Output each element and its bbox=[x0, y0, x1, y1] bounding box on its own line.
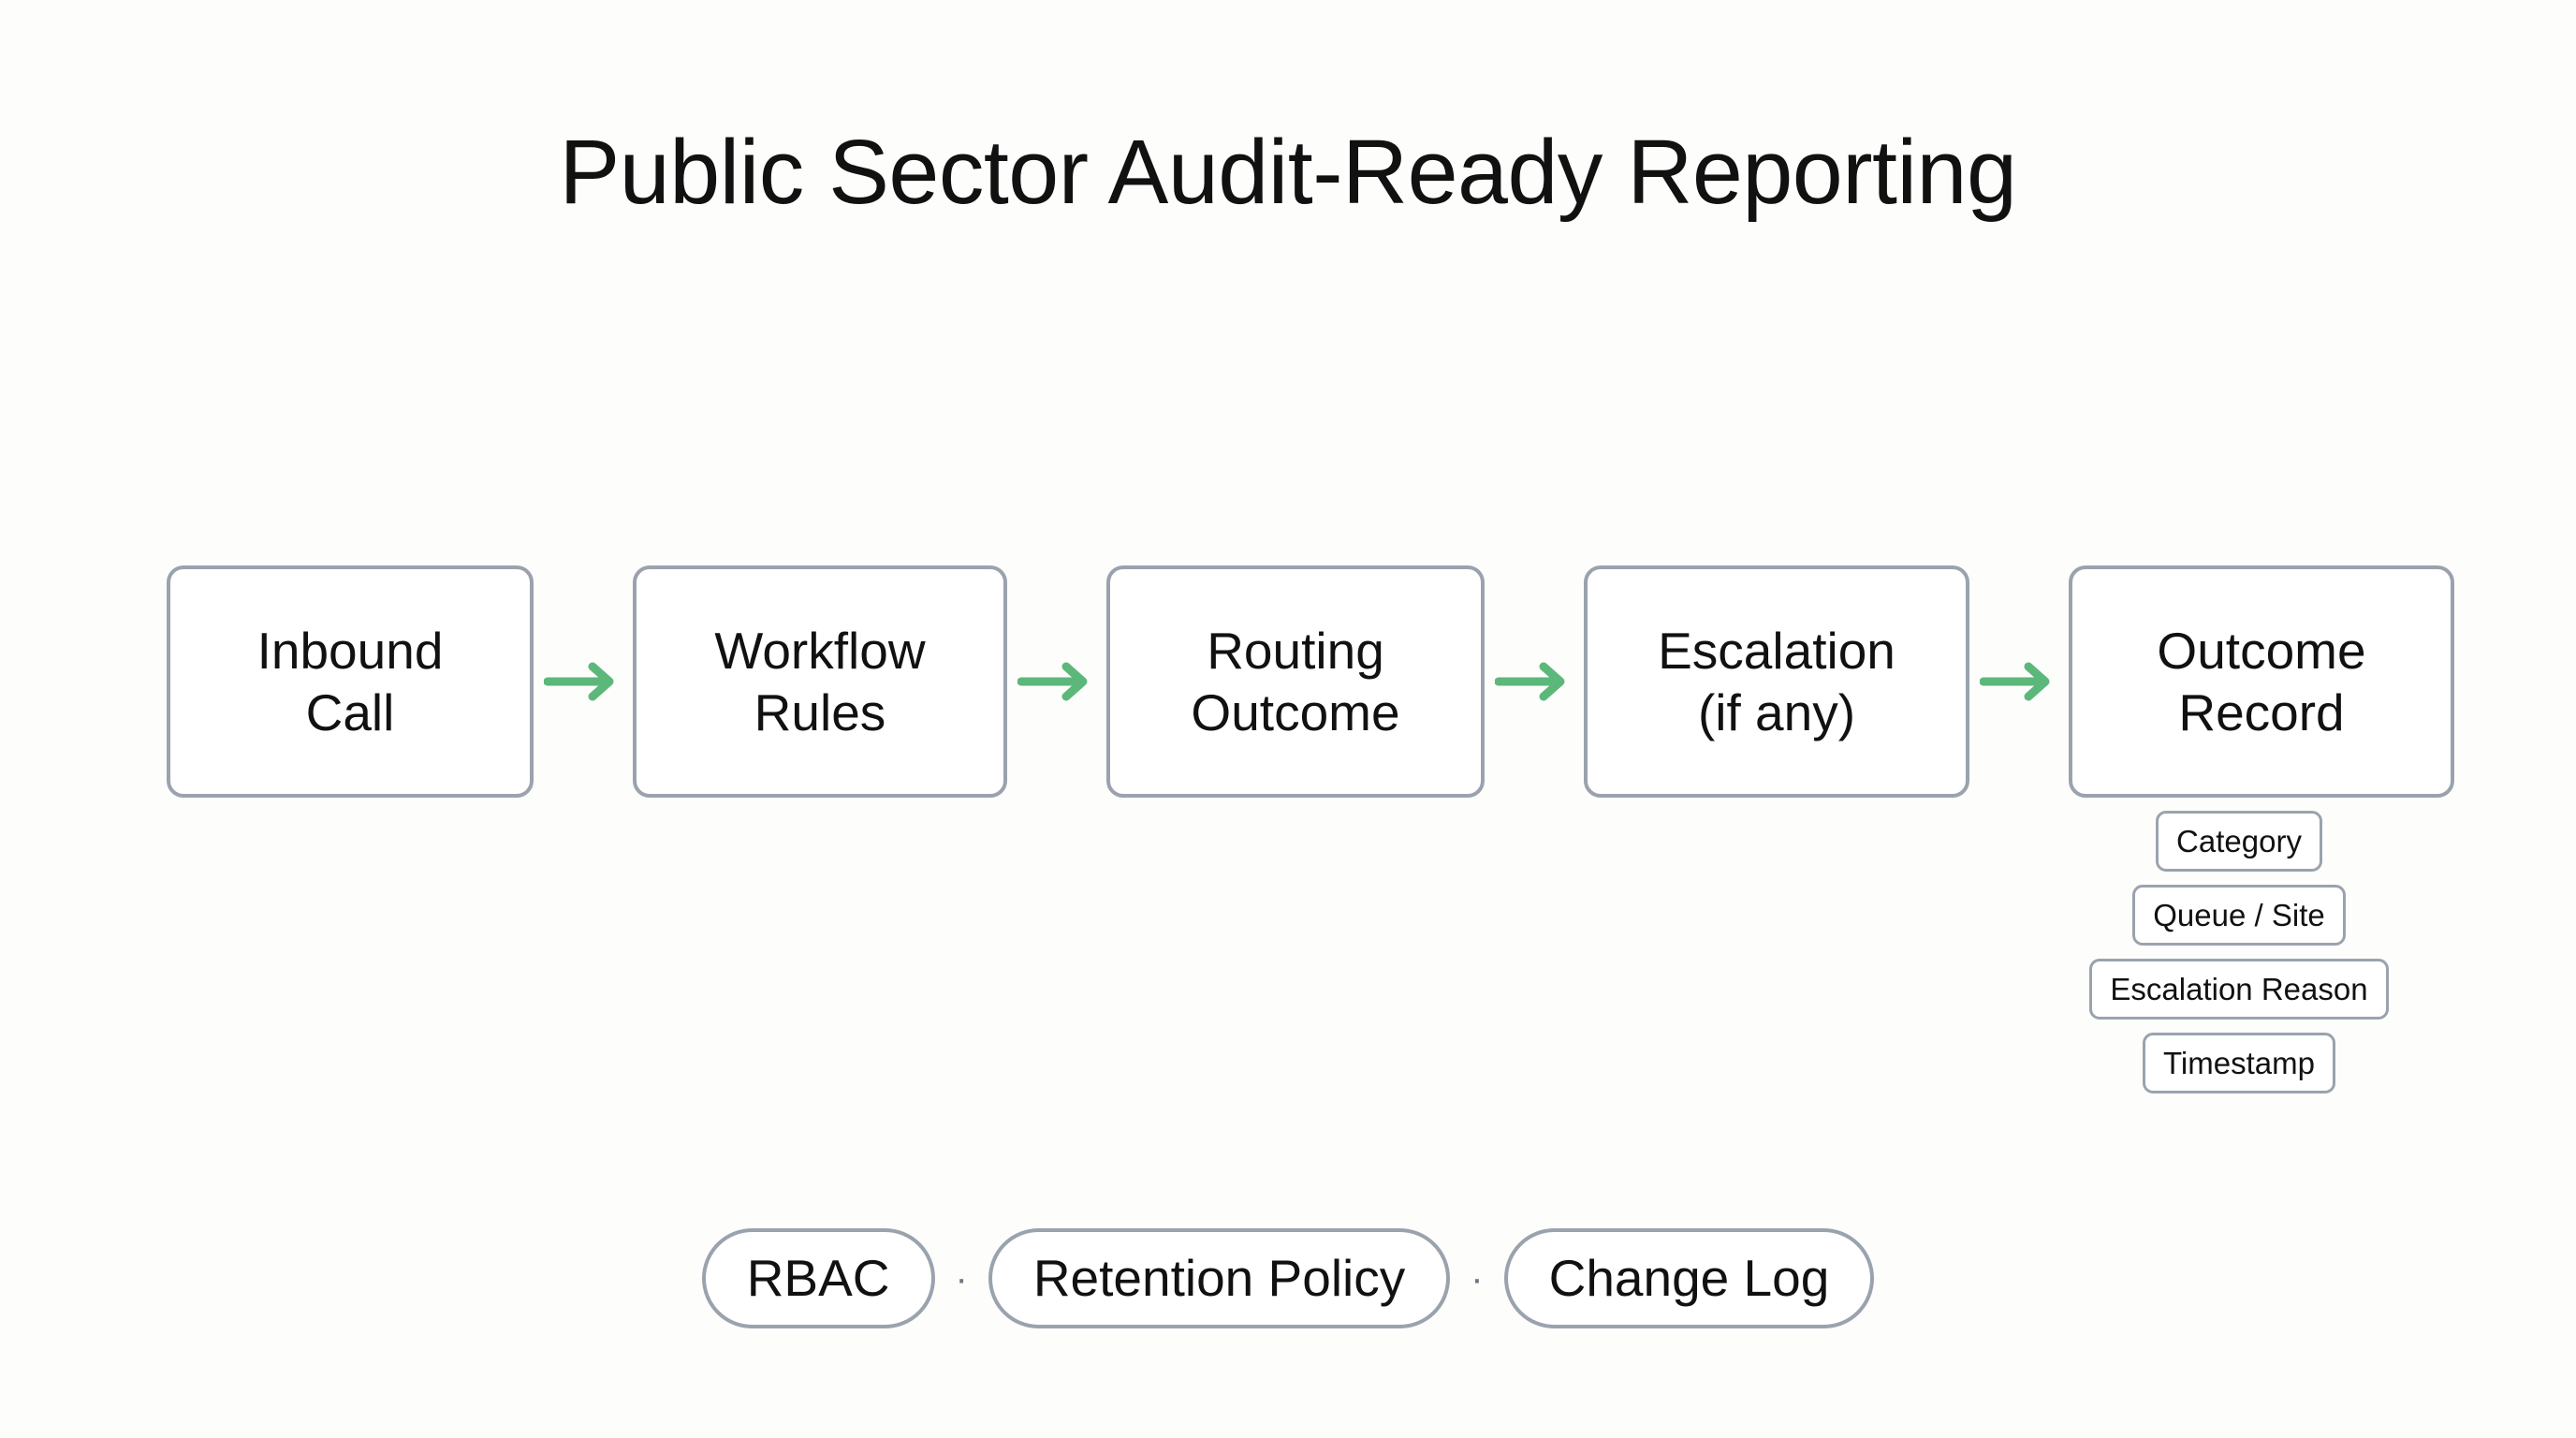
arrow-right-icon bbox=[1495, 660, 1573, 703]
flow-node-escalation: Escalation (if any) bbox=[1584, 565, 1969, 798]
outcome-record-attributes: Category Queue / Site Escalation Reason … bbox=[2046, 811, 2432, 1093]
flow-node-routing-outcome: Routing Outcome bbox=[1106, 565, 1485, 798]
pill-separator-dot: · bbox=[935, 1260, 988, 1298]
attribute-chip-queue-site: Queue / Site bbox=[2132, 885, 2345, 946]
flow-arrow-1 bbox=[534, 565, 633, 798]
flow-node-label: Outcome Record bbox=[2157, 620, 2365, 743]
arrow-right-icon bbox=[544, 660, 622, 703]
flow-node-label: Routing Outcome bbox=[1191, 620, 1399, 743]
attribute-chip-category: Category bbox=[2156, 811, 2322, 872]
flow-arrow-4 bbox=[1969, 565, 2069, 798]
flow-node-label: Escalation (if any) bbox=[1658, 620, 1895, 743]
process-flow-diagram: Inbound Call Workflow Rules Routing Outc… bbox=[167, 565, 2432, 798]
flow-node-inbound-call: Inbound Call bbox=[167, 565, 534, 798]
flow-arrow-2 bbox=[1007, 565, 1106, 798]
flow-node-workflow-rules: Workflow Rules bbox=[633, 565, 1007, 798]
flow-node-label: Workflow Rules bbox=[714, 620, 925, 743]
attribute-chip-timestamp: Timestamp bbox=[2143, 1033, 2335, 1093]
governance-pill-change-log: Change Log bbox=[1504, 1228, 1875, 1328]
arrow-right-icon bbox=[1017, 660, 1096, 703]
governance-pill-rbac: RBAC bbox=[702, 1228, 935, 1328]
page-title: Public Sector Audit-Ready Reporting bbox=[0, 124, 2576, 222]
attribute-chip-escalation-reason: Escalation Reason bbox=[2089, 959, 2388, 1020]
governance-pill-retention-policy: Retention Policy bbox=[988, 1228, 1450, 1328]
pill-separator-dot: · bbox=[1450, 1260, 1503, 1298]
flow-arrow-3 bbox=[1485, 565, 1584, 798]
flow-node-label: Inbound Call bbox=[257, 620, 444, 743]
flow-node-outcome-record: Outcome Record bbox=[2069, 565, 2454, 798]
slide-canvas: Public Sector Audit-Ready Reporting Inbo… bbox=[0, 0, 2576, 1438]
arrow-right-icon bbox=[1980, 660, 2058, 703]
governance-pill-row: RBAC · Retention Policy · Change Log bbox=[0, 1228, 2576, 1328]
